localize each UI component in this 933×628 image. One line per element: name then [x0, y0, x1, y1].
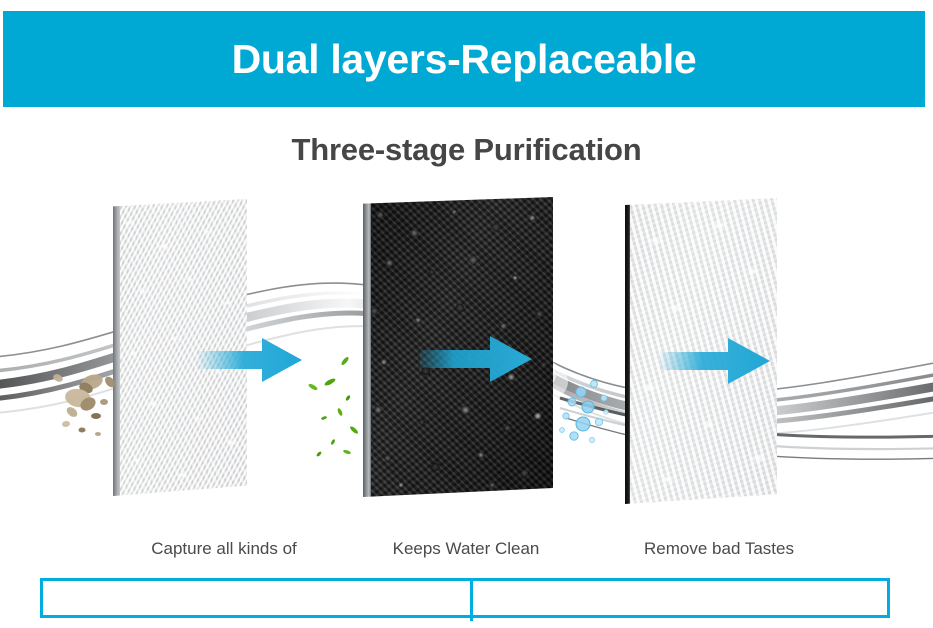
activated-carbon-edge	[363, 197, 371, 497]
banner-title: Dual layers-Replaceable	[232, 39, 697, 80]
header-banner: Dual layers-Replaceable	[3, 11, 925, 107]
stage-1-caption-line1: Capture all kinds of	[110, 538, 338, 560]
section-subtitle: Three-stage Purification	[0, 133, 933, 167]
comparison-bracket-divider	[470, 581, 473, 621]
stage-3-caption-line1: Remove bad Tastes	[605, 538, 833, 560]
pre-filter-edge	[113, 199, 120, 496]
comparison-bracket	[40, 578, 890, 618]
three-stage-illustration	[0, 186, 933, 516]
flow-arrow-3	[660, 336, 772, 391]
stage-captions: Capture all kinds of Hair and Debris Kee…	[0, 516, 933, 568]
deodorizing-edge	[625, 198, 630, 504]
stage-2-caption-line1: Keeps Water Clean	[355, 538, 577, 560]
flow-arrow-1	[196, 336, 304, 389]
flow-arrow-2	[420, 334, 534, 389]
